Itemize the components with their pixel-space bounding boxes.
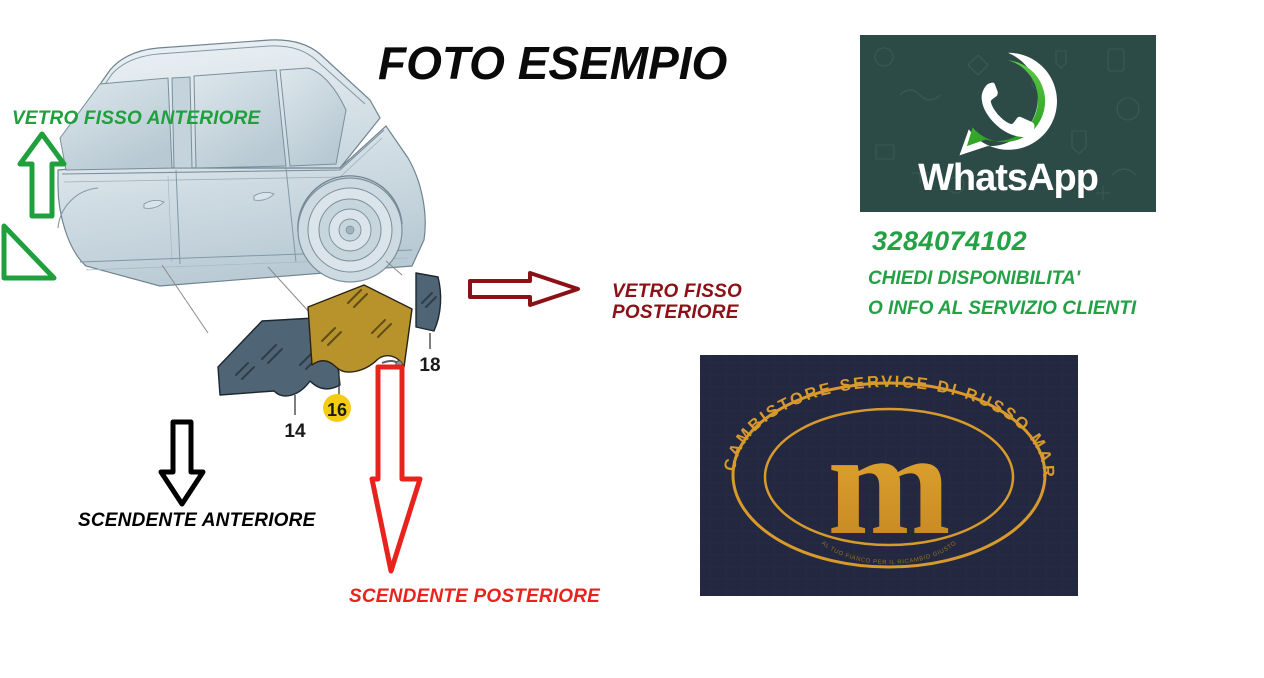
- part-18-glass: 18: [416, 273, 441, 376]
- whatsapp-logo-icon: [952, 49, 1064, 161]
- page-title: FOTO ESEMPIO: [378, 38, 727, 90]
- arrow-up-green-icon: [16, 130, 68, 220]
- label-vetro-fisso-posteriore: VETRO FISSO POSTERIORE: [612, 281, 742, 324]
- poster-canvas: 14 16 17: [0, 0, 1264, 678]
- shop-logo-badge: MRICAMBISTORE SERVICE DI RUSSO MARCO m A…: [700, 355, 1078, 596]
- label-scendente-posteriore: SCENDENTE POSTERIORE: [349, 586, 600, 607]
- label-scendente-anteriore: SCENDENTE ANTERIORE: [78, 510, 315, 531]
- arrow-right-darkred-icon: [466, 268, 582, 310]
- whatsapp-wordmark: WhatsApp: [860, 157, 1156, 200]
- part-number-16: 16: [327, 400, 347, 420]
- arrow-down-red-icon: [368, 363, 426, 578]
- arrow-down-black-icon: [155, 418, 209, 508]
- exploded-glass-parts: 14 16 17: [150, 255, 480, 440]
- contact-customer-service-line: O INFO AL SERVIZIO CLIENTI: [868, 298, 1136, 320]
- shop-logo-monogram: m: [827, 402, 950, 566]
- shop-logo-emblem: MRICAMBISTORE SERVICE DI RUSSO MARCO m A…: [700, 355, 1078, 596]
- label-vetro-fisso-anteriore: VETRO FISSO ANTERIORE: [12, 108, 260, 129]
- phone-number[interactable]: 3284074102: [872, 226, 1027, 257]
- part-number-14: 14: [284, 421, 306, 440]
- triangle-green-marker-icon: [0, 222, 58, 284]
- contact-availability-line: CHIEDI DISPONIBILITA': [868, 268, 1080, 290]
- whatsapp-banner[interactable]: WhatsApp: [860, 35, 1156, 212]
